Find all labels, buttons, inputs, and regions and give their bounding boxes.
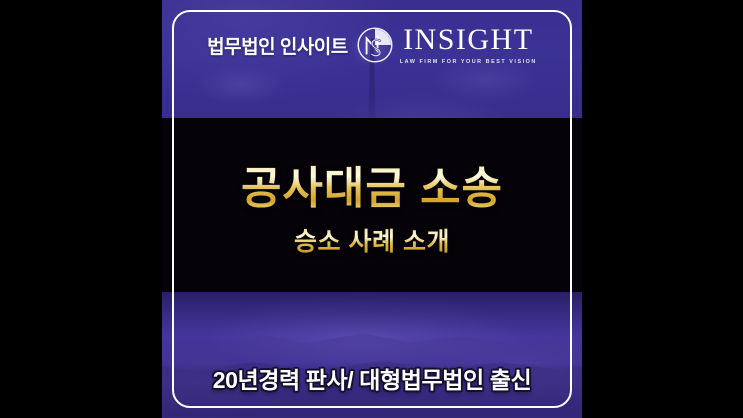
wordmark-text: INSIGHT (403, 25, 534, 55)
poster-stage: 법무법인 인사이트 INSIGHT LAW FIRM FOR YOUR BEST… (0, 0, 743, 418)
insight-monogram-icon (354, 24, 396, 66)
letterbox-bar-left (0, 0, 162, 418)
poster-content: 법무법인 인사이트 INSIGHT LAW FIRM FOR YOUR BEST… (162, 0, 582, 418)
caption-text: 20년경력 판사/ 대형법무법인 출신 (213, 361, 532, 395)
wordmark-tagline: LAW FIRM FOR YOUR BEST VISION (400, 59, 537, 65)
insight-wordmark: INSIGHT LAW FIRM FOR YOUR BEST VISION (400, 25, 537, 65)
headline-text: 공사대금 소송 (241, 152, 503, 216)
header-brand-row: 법무법인 인사이트 INSIGHT LAW FIRM FOR YOUR BEST… (207, 24, 537, 66)
letterbox-bar-right (582, 0, 743, 418)
caption-block: 20년경력 판사/ 대형법무법인 출신 (162, 292, 582, 418)
headline-block: 공사대금 소송 승소 사례 소개 (162, 118, 582, 292)
brand-name-korean: 법무법인 인사이트 (207, 32, 348, 59)
poster-header: 법무법인 인사이트 INSIGHT LAW FIRM FOR YOUR BEST… (162, 0, 582, 118)
subheadline-text: 승소 사례 소개 (294, 222, 450, 258)
